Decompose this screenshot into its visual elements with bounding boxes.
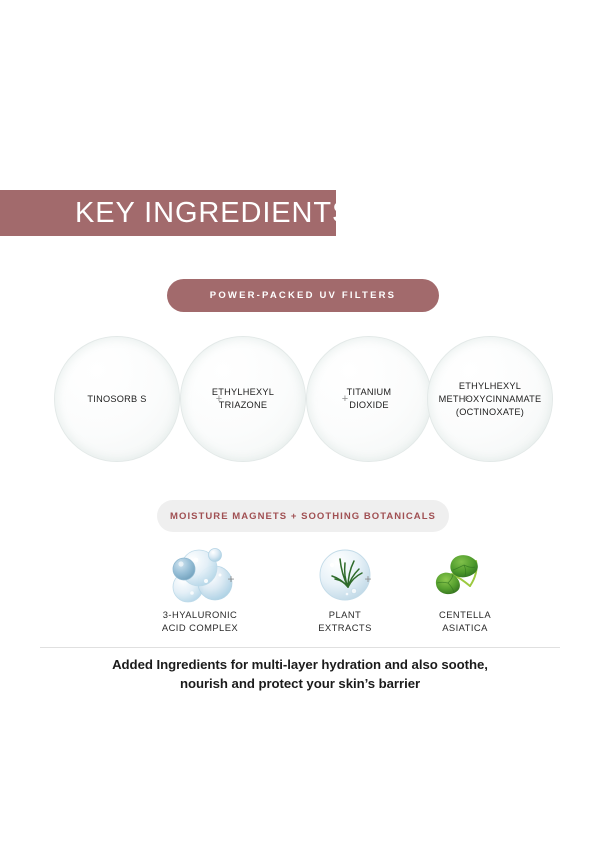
uv-filter-label: TINOSORB S [79,393,154,406]
botanical-label: CENTELLA ASIATICA [410,609,520,634]
uv-filters-badge-label: POWER-PACKED UV FILTERS [210,290,396,301]
droplet-herb-icon [290,543,400,605]
botanical-item: PLANT EXTRACTS [290,543,400,634]
page-title: KEY INGREDIENTS [75,199,352,228]
botanical-label: 3-HYALURONIC ACID COMPLEX [145,609,255,634]
key-ingredients-banner: KEY INGREDIENTS [0,190,336,236]
botanicals-row: 3-HYALURONIC ACID COMPLEX [100,543,500,641]
botanical-item: CENTELLA ASIATICA [410,543,520,634]
uv-filters-row: TINOSORB S ETHYLHEXYL TRIAZONE TITANIUM … [48,336,552,464]
centella-leaves-icon [410,543,520,605]
key-ingredients-page: KEY INGREDIENTS POWER-PACKED UV FILTERS … [0,0,600,866]
water-bubbles-icon [145,543,255,605]
uv-filters-badge: POWER-PACKED UV FILTERS [167,279,439,312]
uv-filter-item: TITANIUM DIOXIDE [306,336,432,462]
uv-filter-item: ETHYLHEXYL METHOXYCINNAMATE (OCTINOXATE) [427,336,553,462]
plus-icon: + [339,394,351,405]
section-divider [40,647,560,648]
uv-filter-circle: ETHYLHEXYL METHOXYCINNAMATE (OCTINOXATE) [427,336,553,462]
moisture-botanicals-badge-label: MOISTURE MAGNETS + SOOTHING BOTANICALS [170,511,436,522]
plus-icon: + [225,573,237,585]
uv-filter-circle: TITANIUM DIOXIDE [306,336,432,462]
plus-icon: + [460,394,472,405]
botanical-label: PLANT EXTRACTS [290,609,400,634]
uv-filter-item: TINOSORB S [54,336,180,462]
uv-filter-item: ETHYLHEXYL TRIAZONE [180,336,306,462]
botanical-item: 3-HYALURONIC ACID COMPLEX [145,543,255,634]
uv-filter-circle: TINOSORB S [54,336,180,462]
plus-icon: + [213,394,225,405]
moisture-botanicals-badge: MOISTURE MAGNETS + SOOTHING BOTANICALS [157,500,449,532]
footer-caption: Added Ingredients for multi-layer hydrat… [60,655,540,693]
uv-filter-circle: ETHYLHEXYL TRIAZONE [180,336,306,462]
uv-filter-label: ETHYLHEXYL METHOXYCINNAMATE (OCTINOXATE) [431,380,550,419]
plus-icon: + [362,573,374,585]
